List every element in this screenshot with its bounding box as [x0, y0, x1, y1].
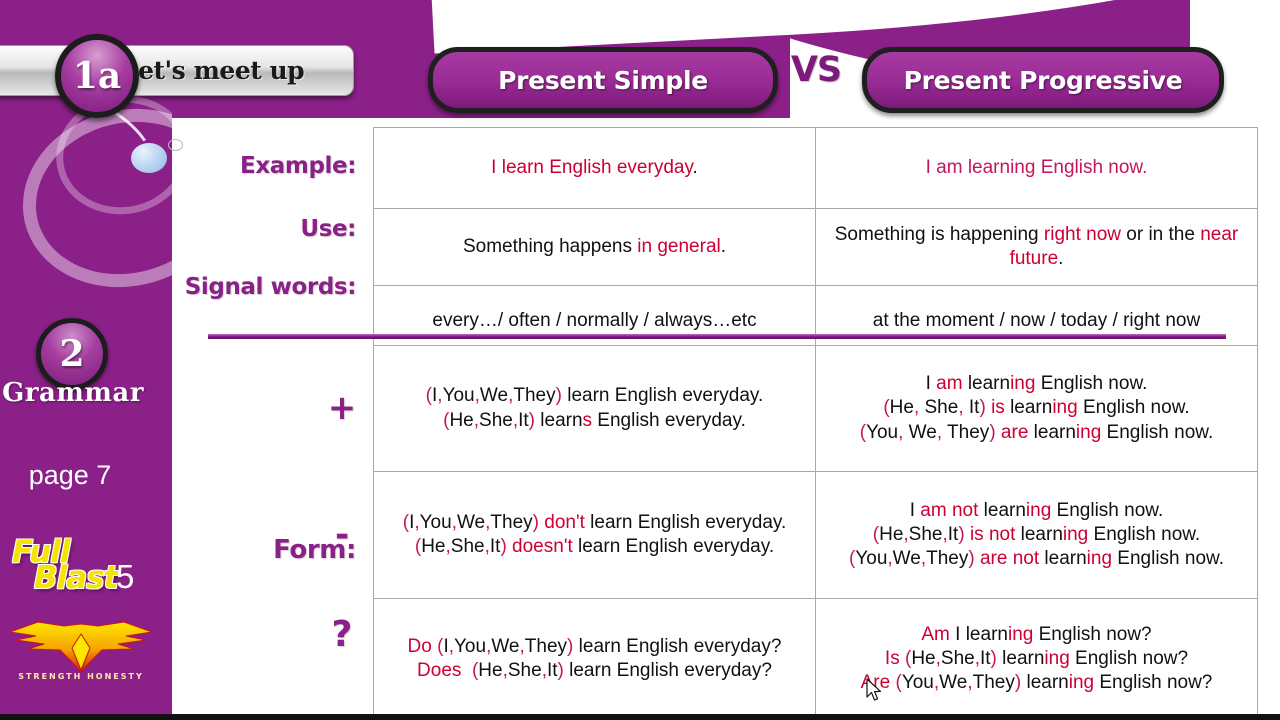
section-number-text: 2 [59, 336, 84, 372]
section-title: Grammar [0, 378, 146, 408]
book-title-line2: Blast [34, 560, 117, 596]
cell-use-simple: Something happens in general. [374, 209, 816, 286]
cell-use-progressive: Something is happening right now or in t… [816, 209, 1258, 286]
row-label-example: Example: [160, 153, 356, 179]
cell-question-simple: Do (I,You,We,They) learn English everyda… [374, 599, 816, 720]
form-symbol-positive: + [322, 388, 362, 428]
unit-number-text: 1a [73, 58, 121, 94]
emblem-motto: STRENGTH HONESTY [6, 672, 156, 681]
blue-sphere-decoration [131, 143, 167, 173]
wings-icon [6, 620, 156, 672]
versus-label: VS [785, 50, 847, 90]
page-number: page 7 [0, 460, 140, 491]
form-table: (I,You,We,They) learn English everyday.(… [373, 345, 1258, 720]
cell-positive-simple: (I,You,We,They) learn English everyday.(… [374, 346, 816, 472]
form-symbol-question: ? [322, 614, 362, 655]
section-divider [208, 334, 1226, 339]
row-label-signal-words: Signal words: [140, 274, 356, 300]
table-row: (I,You,We,They) learn English everyday.(… [374, 346, 1258, 472]
tense-pill-present-simple[interactable]: Present Simple [428, 47, 778, 113]
cursor-arrow-icon [866, 678, 884, 704]
slide-canvas: 2 Grammar page 7 Full Blast 5 STREN [0, 0, 1280, 720]
form-symbol-negative: - [322, 515, 362, 555]
bottom-black-bar [0, 714, 1280, 720]
mouse-cursor [866, 678, 884, 709]
row-label-use: Use: [160, 216, 356, 242]
unit-number-badge: 1a [55, 34, 139, 118]
book-level: 5 [116, 558, 134, 596]
winged-emblem: STRENGTH HONESTY [6, 620, 156, 692]
tense-pill-right-label: Present Progressive [904, 66, 1183, 95]
small-ring-decoration [168, 139, 183, 151]
book-logo: Full Blast 5 [8, 534, 158, 602]
cell-example-simple: I learn English everyday. [374, 128, 816, 209]
unit-title-bar: Let's meet up [0, 45, 354, 96]
cell-negative-simple: (I,You,We,They) don't learn English ever… [374, 472, 816, 599]
table-row: Something happens in general. Something … [374, 209, 1258, 286]
table-row: (I,You,We,They) don't learn English ever… [374, 472, 1258, 599]
tense-pill-left-label: Present Simple [498, 66, 708, 95]
cell-negative-progressive: I am not learning English now.(He,She,It… [816, 472, 1258, 599]
tense-pill-present-progressive[interactable]: Present Progressive [862, 47, 1224, 113]
comparison-table-top: I learn English everyday. I am learning … [373, 127, 1258, 357]
table-row: I learn English everyday. I am learning … [374, 128, 1258, 209]
unit-title-text: Let's meet up [121, 56, 304, 85]
comparison-table-top-body: I learn English everyday. I am learning … [374, 128, 1258, 357]
cell-example-progressive: I am learning English now. [816, 128, 1258, 209]
form-table-body: (I,You,We,They) learn English everyday.(… [374, 346, 1258, 720]
table-row: Do (I,You,We,They) learn English everyda… [374, 599, 1258, 720]
cell-positive-progressive: I am learning English now.(He, She, It) … [816, 346, 1258, 472]
